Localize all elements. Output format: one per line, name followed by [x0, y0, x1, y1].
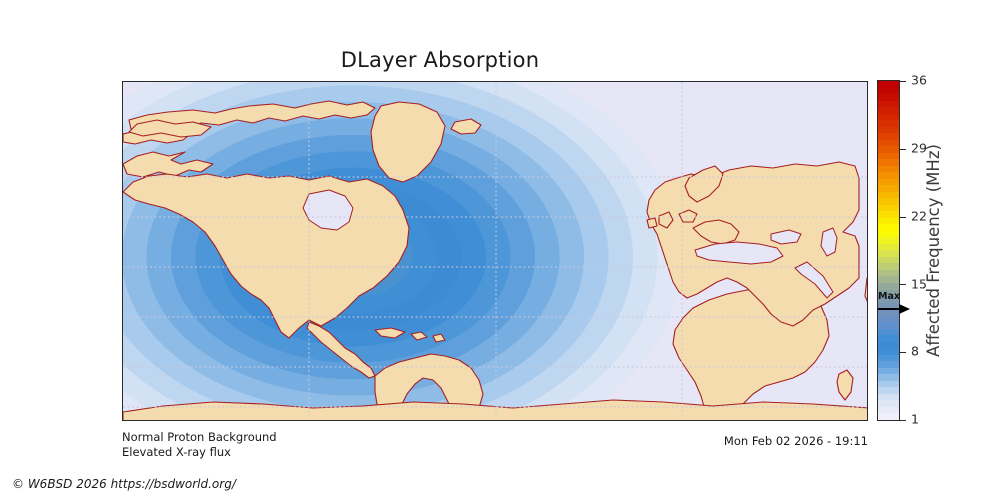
page-title: DLayer Absorption	[0, 48, 880, 72]
footer-credit: © W6BSD 2026 https://bsdworld.org/	[12, 477, 236, 491]
tick-mark	[900, 352, 906, 353]
colorbar-axis-label: Affected Frequency (MHz)	[922, 80, 945, 421]
tick-mark	[900, 284, 906, 285]
colorbar-tick: 1	[900, 420, 919, 421]
colorbar-band	[878, 413, 899, 420]
tick-mark	[900, 420, 906, 421]
arrow-right-icon	[877, 303, 911, 317]
tick-label: 1	[911, 414, 919, 427]
graticule-gridlines	[123, 82, 868, 421]
tick-label: 8	[911, 346, 919, 359]
map-axes[interactable]	[122, 81, 868, 421]
timestamp-label: Mon Feb 02 2026 - 19:11	[724, 434, 868, 448]
colorbar-tick: 8	[900, 352, 919, 353]
colorbar[interactable]	[877, 80, 900, 421]
status-note-proton: Normal Proton Background	[122, 430, 277, 444]
tick-mark	[900, 81, 906, 82]
colorbar-gradient	[878, 81, 899, 420]
colorbar-max-marker: Max	[877, 292, 923, 320]
figure-canvas: DLayer Absorption	[0, 0, 1000, 500]
tick-mark	[900, 149, 906, 150]
max-marker-label: Max	[878, 292, 900, 302]
status-note-xray: Elevated X-ray flux	[122, 445, 231, 459]
tick-mark	[900, 217, 906, 218]
